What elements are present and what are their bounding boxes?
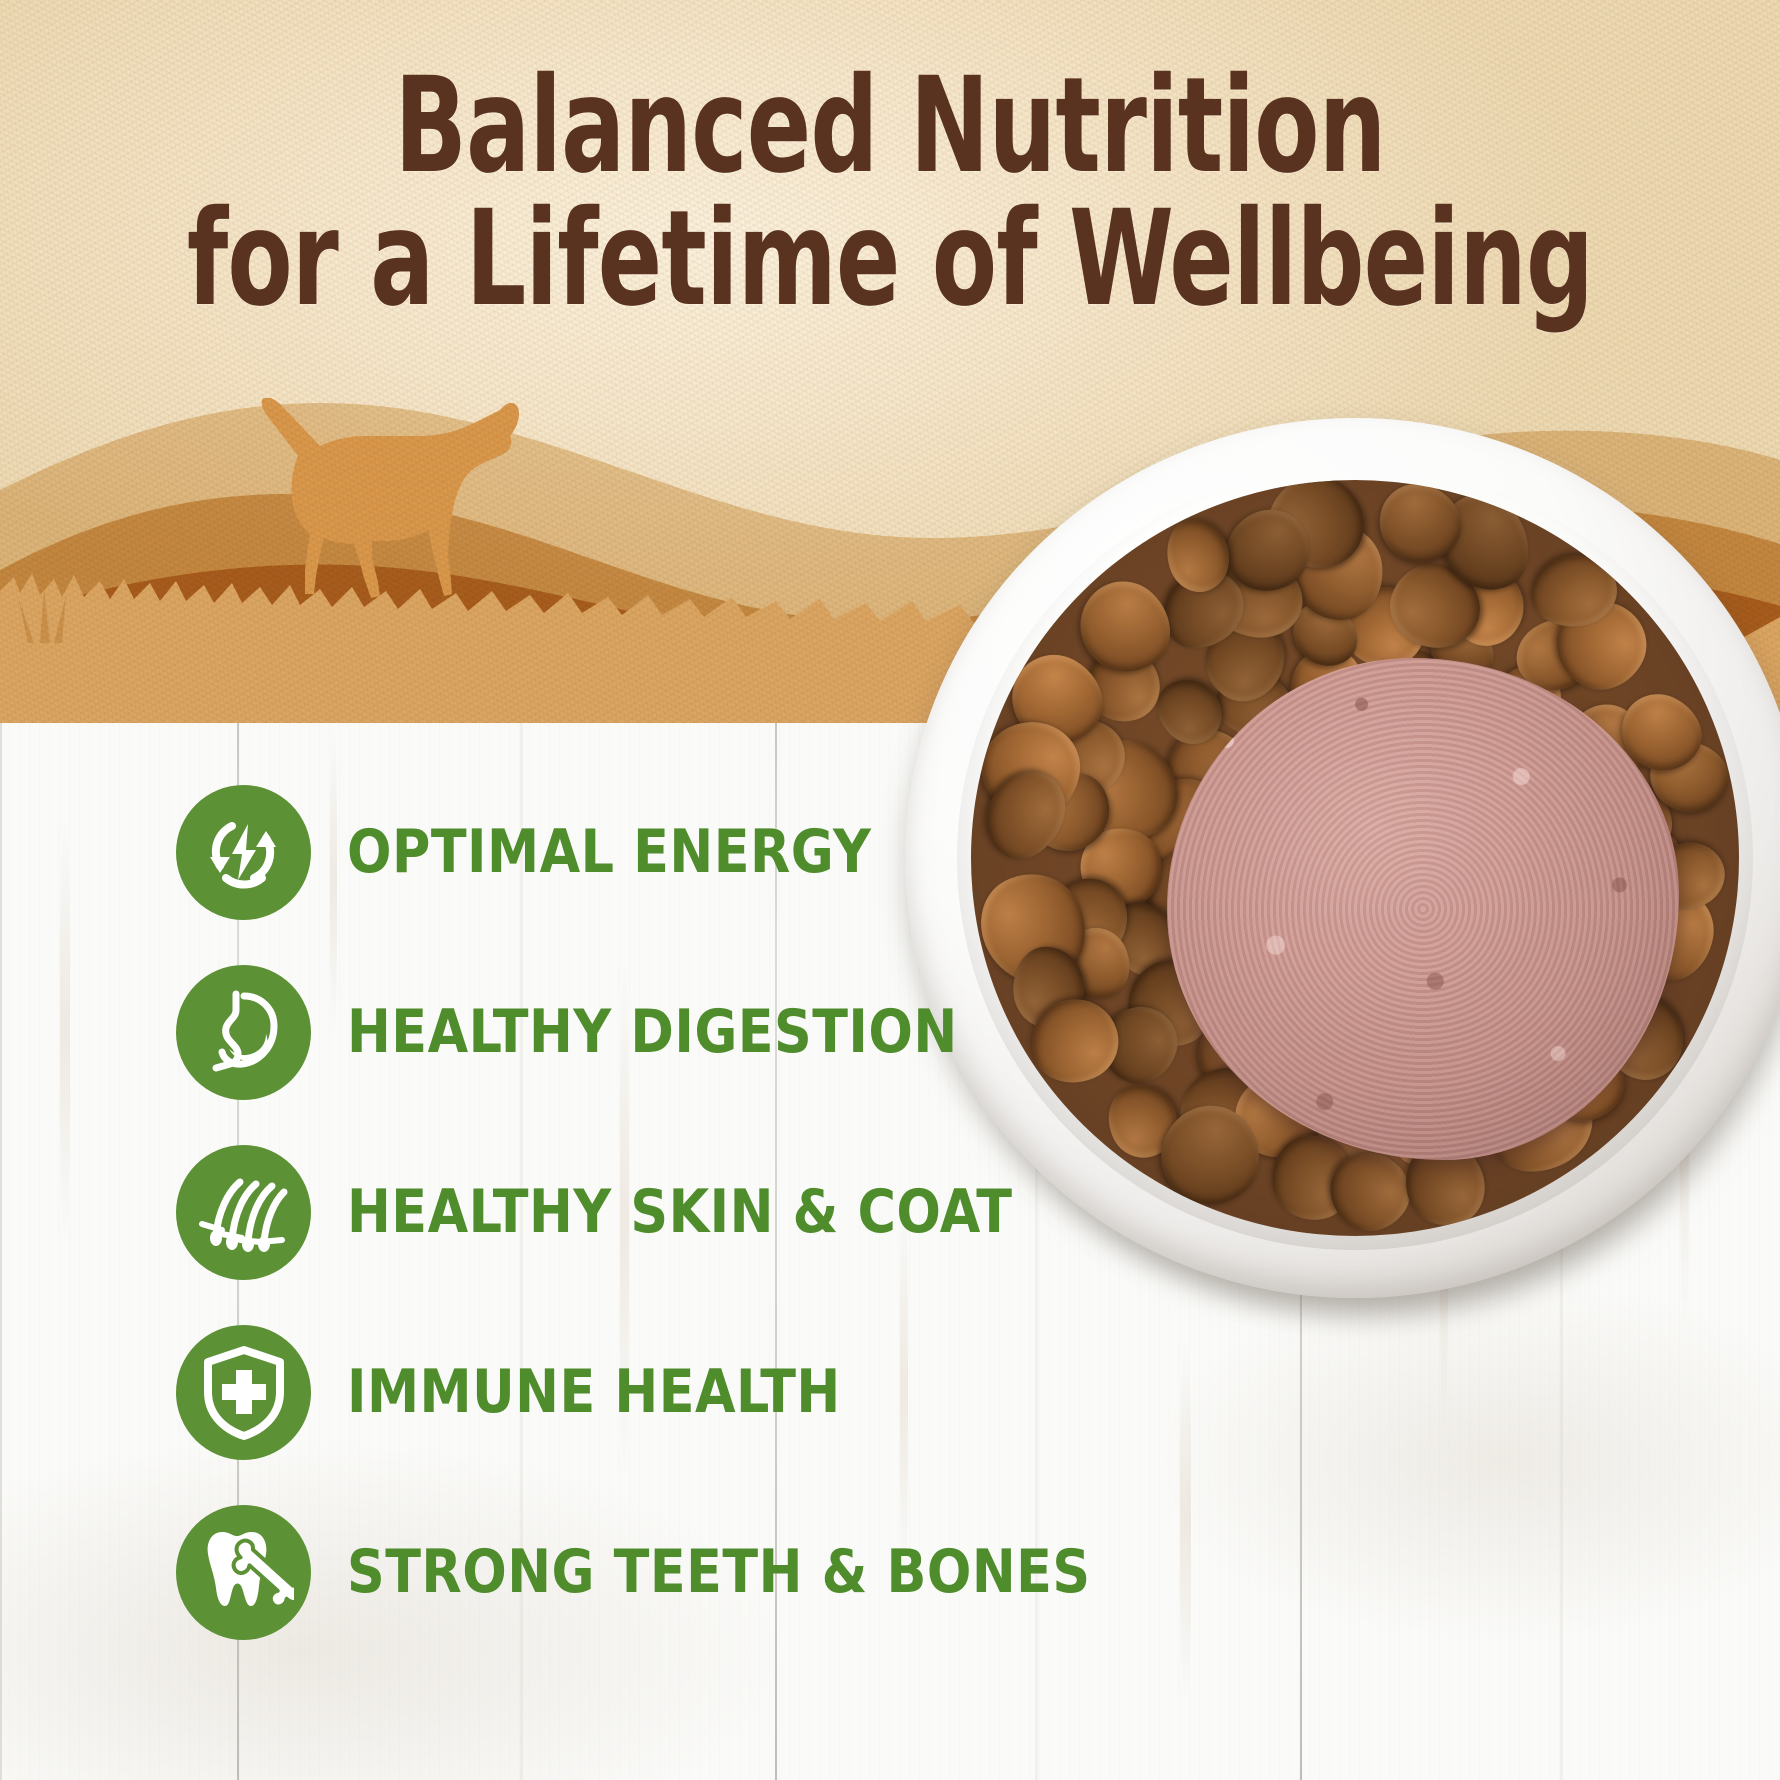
benefits-list: OPTIMAL ENERGY HEALTHY DIGESTION: [176, 762, 1036, 1662]
list-item[interactable]: HEALTHY SKIN & COAT: [176, 1122, 1036, 1302]
list-item[interactable]: STRONG TEETH & BONES: [176, 1482, 1036, 1662]
benefit-icon-badge: [176, 785, 311, 920]
benefit-label: IMMUNE HEALTH: [347, 1357, 841, 1427]
pate-topping: [1167, 658, 1679, 1160]
hair-follicle-icon: [194, 1162, 294, 1262]
benefit-icon-badge: [176, 965, 311, 1100]
wood-grain: [1180, 1340, 1191, 1700]
benefit-icon-badge: [176, 1325, 311, 1460]
headline-line-2: for a Lifetime of Wellbeing: [178, 195, 1602, 324]
benefit-label: HEALTHY SKIN & COAT: [347, 1177, 1013, 1247]
wood-grain: [60, 820, 70, 1240]
headline-line-1: Balanced Nutrition: [178, 62, 1602, 191]
benefit-label: OPTIMAL ENERGY: [347, 817, 871, 887]
benefit-label: STRONG TEETH & BONES: [347, 1537, 1091, 1607]
energy-recycle-bolt-icon: [196, 804, 292, 900]
benefit-label: HEALTHY DIGESTION: [347, 997, 958, 1067]
stomach-icon: [196, 984, 292, 1080]
benefit-icon-badge: [176, 1145, 311, 1280]
tooth-bone-icon: [194, 1522, 294, 1622]
list-item[interactable]: OPTIMAL ENERGY: [176, 762, 1036, 942]
kibble-bed: [971, 480, 1739, 1236]
shield-cross-icon: [198, 1344, 290, 1440]
headline: Balanced Nutrition for a Lifetime of Wel…: [0, 62, 1780, 325]
list-item[interactable]: HEALTHY DIGESTION: [176, 942, 1036, 1122]
pate-texture: [1167, 658, 1679, 1160]
promo-infographic: Balanced Nutrition for a Lifetime of Wel…: [0, 0, 1780, 1780]
list-item[interactable]: IMMUNE HEALTH: [176, 1302, 1036, 1482]
dog-food-bowl-photo: [905, 418, 1780, 1298]
benefit-icon-badge: [176, 1505, 311, 1640]
